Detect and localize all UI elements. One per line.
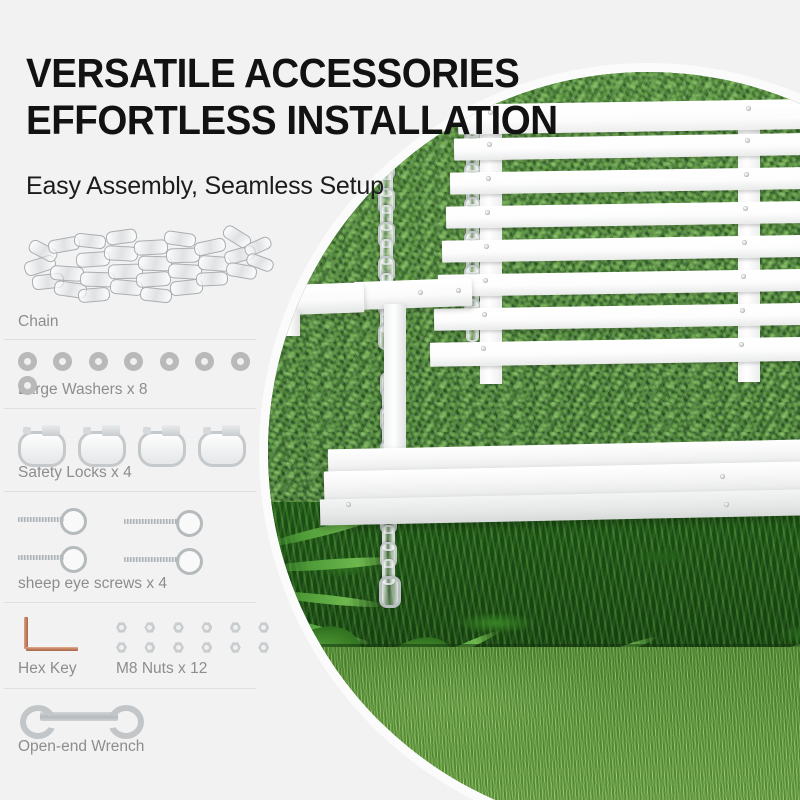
- washer-icon: [18, 352, 37, 371]
- hex-nut-icon: [230, 642, 241, 653]
- accessory-item-chain: Chain: [0, 222, 270, 331]
- washer-icon: [124, 352, 143, 371]
- seat-screw: [720, 474, 725, 479]
- slat-screw: [485, 210, 490, 215]
- armrest-screw: [456, 288, 461, 293]
- open-end-wrench-icon: [18, 701, 270, 735]
- hexkey-nuts-icon-group: [18, 615, 270, 657]
- slat-screw: [486, 176, 491, 181]
- hex-nut-icon: [116, 622, 127, 633]
- eye-screw-icon-group: [18, 504, 270, 572]
- armrest: [354, 278, 473, 310]
- washer-icon: [89, 352, 108, 371]
- slat-screw: [484, 244, 489, 249]
- quick-link-icon-group: [18, 421, 270, 461]
- washer-icon: [195, 352, 214, 371]
- washer-icon-group: [18, 352, 270, 378]
- slat-screw: [742, 240, 747, 245]
- accessory-label: Large Washers x 8: [18, 378, 270, 399]
- hex-nut-icon: [173, 642, 184, 653]
- seat-screw: [724, 502, 729, 507]
- armrest-screw: [418, 290, 423, 295]
- chain-coil-icon: [18, 222, 268, 310]
- slat-screw: [481, 346, 486, 351]
- slat-screw: [746, 106, 751, 111]
- hex-nut-icon: [144, 622, 155, 633]
- hex-nut-icon: [116, 642, 127, 653]
- hex-nut-icon: [144, 642, 155, 653]
- hex-nut-icon: [258, 642, 269, 653]
- accessory-item-safety-locks: Safety Locks x 4: [0, 409, 270, 482]
- slat-screw: [744, 172, 749, 177]
- slat-screw: [741, 274, 746, 279]
- accessory-list: Chain Large Washers x 8: [0, 222, 270, 756]
- slat-screw: [482, 312, 487, 317]
- slat-screw: [745, 138, 750, 143]
- seat-screw: [346, 502, 351, 507]
- page-headline: VERSATILE ACCESSORIES EFFORTLESS INSTALL…: [26, 50, 590, 144]
- accessory-item-eye-screws: sheep eye screws x 4: [0, 492, 270, 593]
- accessory-label: Chain: [18, 310, 270, 331]
- product-marketing-image: VERSATILE ACCESSORIES EFFORTLESS INSTALL…: [0, 0, 800, 800]
- accessory-label: sheep eye screws x 4: [18, 572, 270, 593]
- washer-icon: [18, 376, 37, 395]
- washer-icon: [160, 352, 179, 371]
- slat-screw: [483, 278, 488, 283]
- armrest-support-post: [280, 310, 300, 336]
- armrest-support-post: [384, 304, 406, 452]
- washer-icon: [231, 352, 250, 371]
- slat-screw: [743, 206, 748, 211]
- accessory-item-hexkey-nuts: Hex Key M8 Nuts x 12: [0, 603, 270, 679]
- headline-line-2: EFFORTLESS INSTALLATION: [26, 97, 590, 144]
- accessory-label: Open-end Wrench: [18, 735, 270, 756]
- headline-line-1: VERSATILE ACCESSORIES: [26, 50, 590, 97]
- backrest-slat: [450, 163, 800, 194]
- slat-screw: [739, 342, 744, 347]
- hex-nut-icon: [173, 622, 184, 633]
- accessory-label: Hex Key: [18, 657, 77, 678]
- slat-screw: [740, 308, 745, 313]
- accessory-item-wrench: Open-end Wrench: [0, 689, 270, 756]
- accessory-label: M8 Nuts x 12: [116, 657, 207, 678]
- accessory-item-washers: Large Washers x 8: [0, 340, 270, 399]
- hex-nut-icon: [258, 622, 269, 633]
- hex-nut-icon: [201, 622, 212, 633]
- washer-icon: [53, 352, 72, 371]
- hex-nut-icon: [230, 622, 241, 633]
- hex-nut-icon-group: [116, 621, 269, 657]
- hex-nut-icon: [201, 642, 212, 653]
- page-subheadline: Easy Assembly, Seamless Setup: [26, 172, 384, 201]
